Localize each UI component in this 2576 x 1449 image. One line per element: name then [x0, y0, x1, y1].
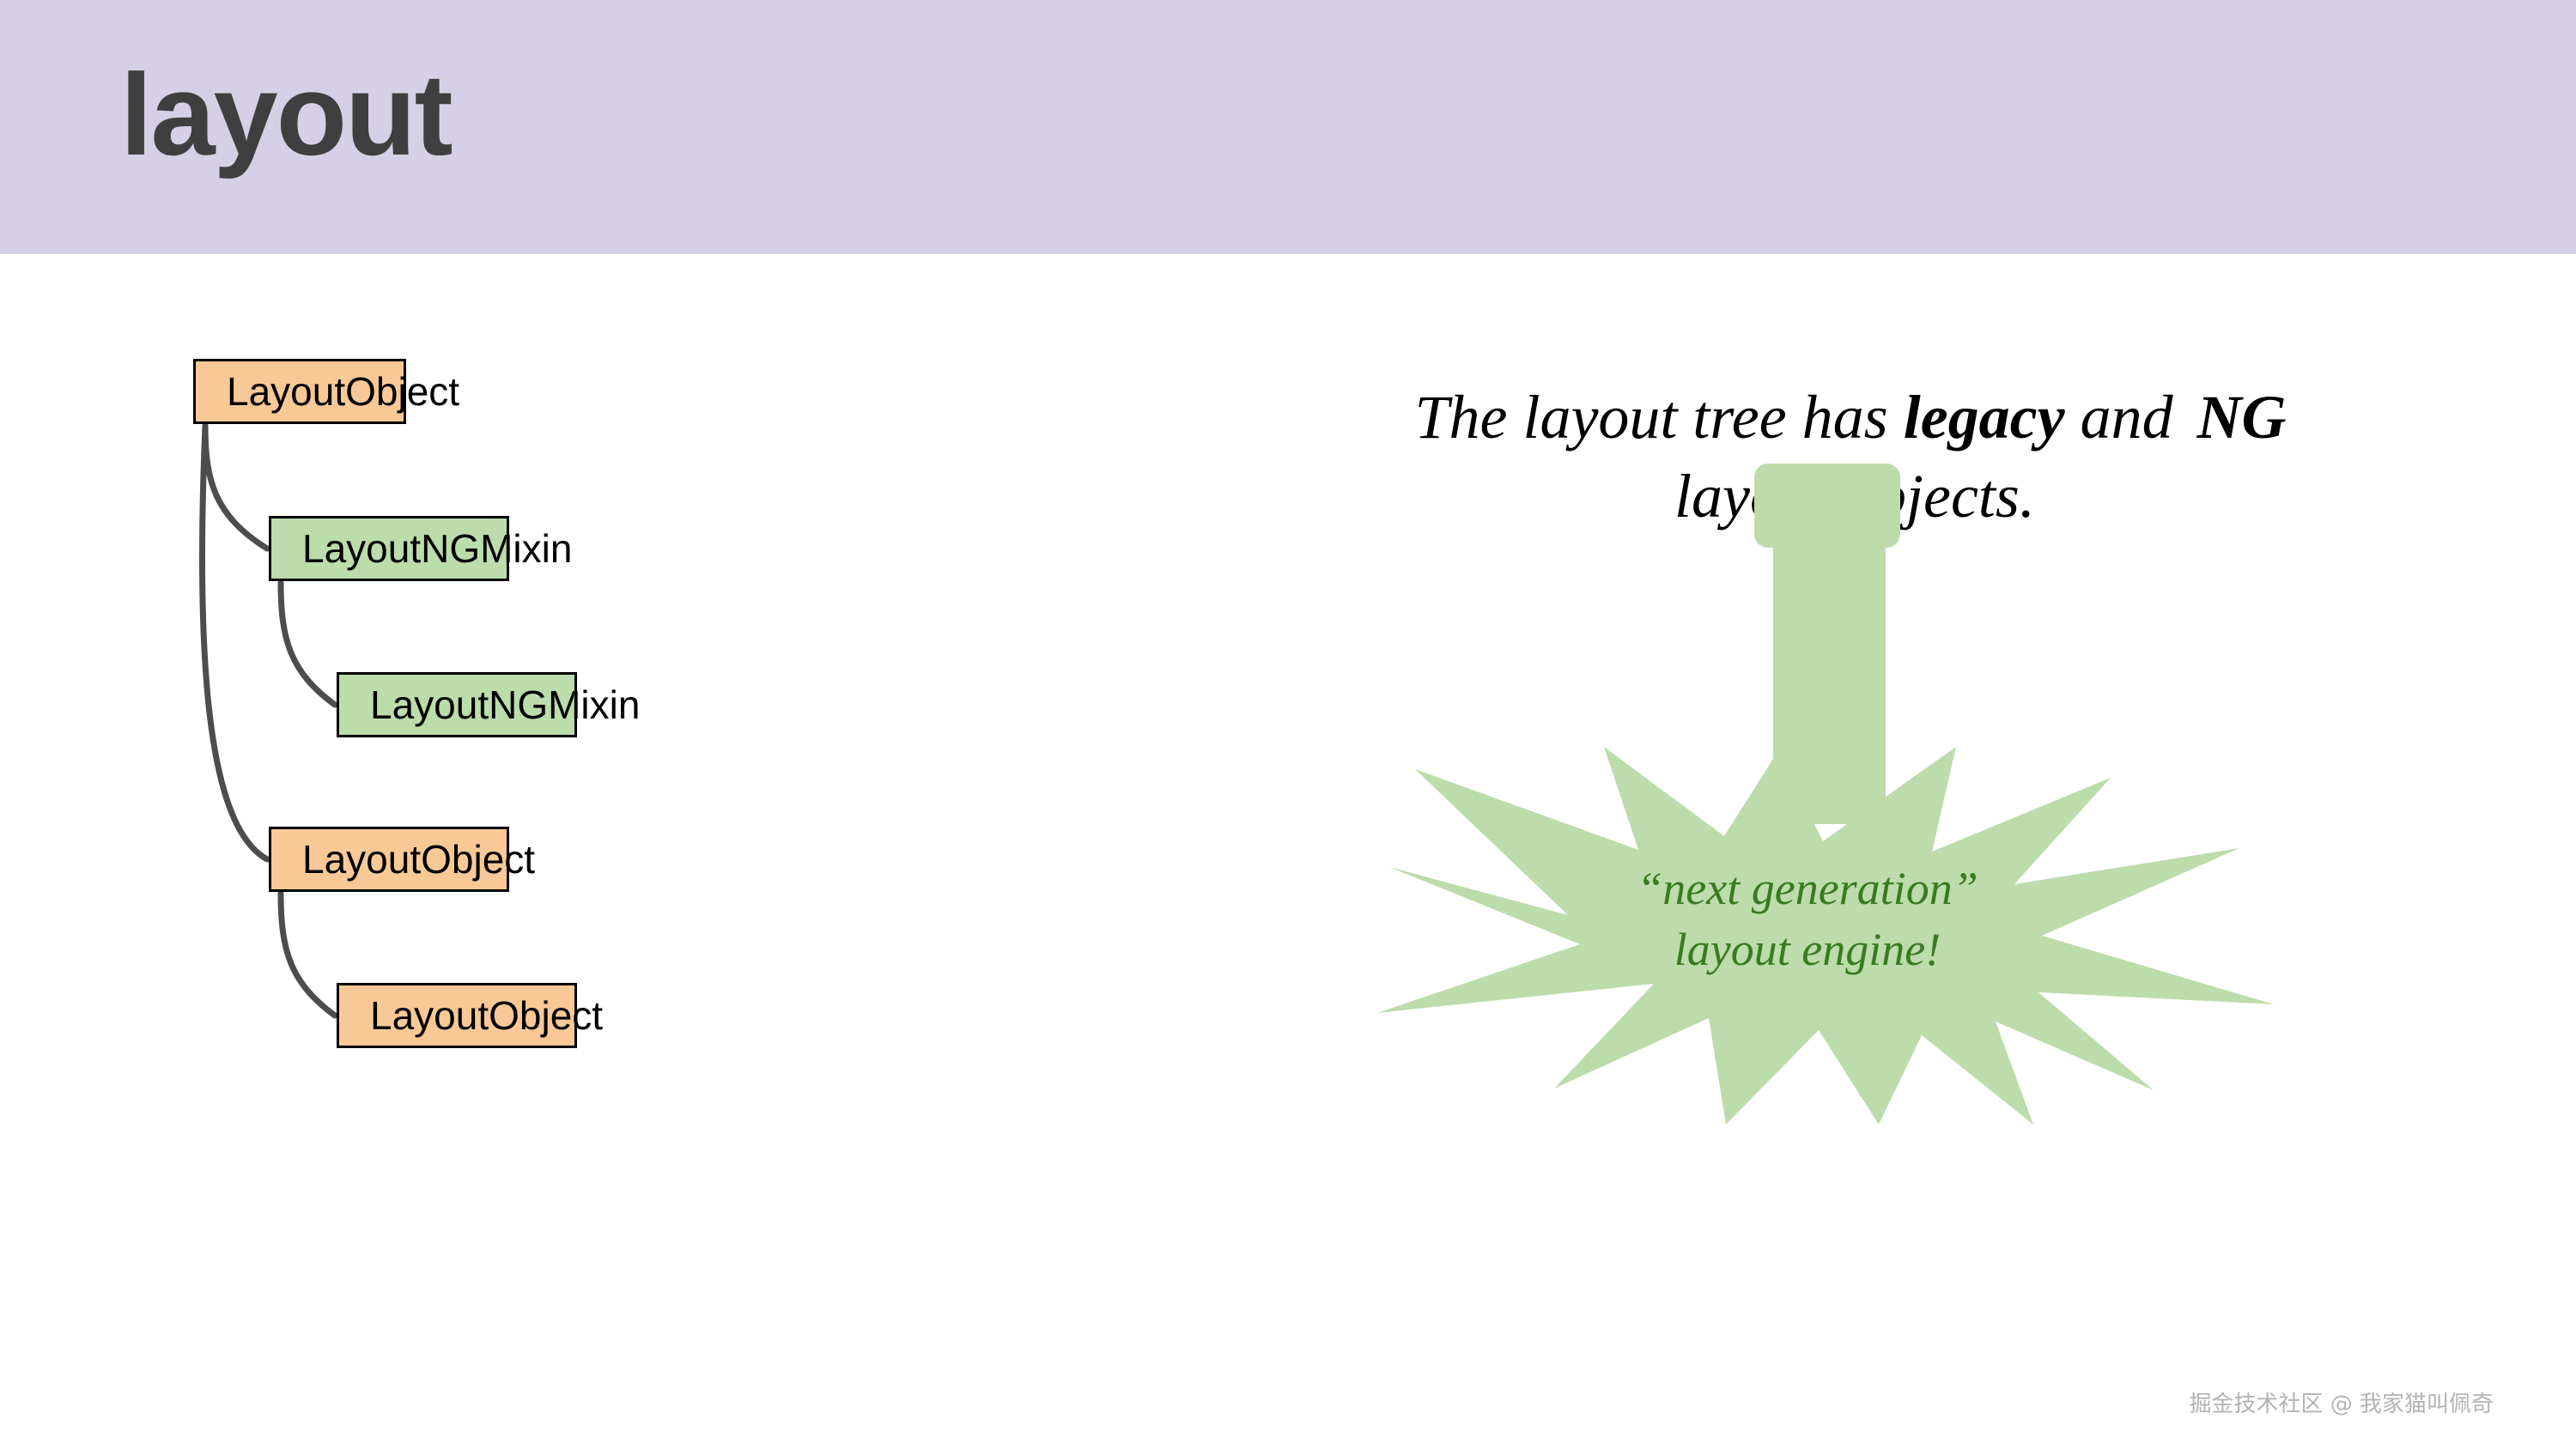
connector-edge: [205, 426, 267, 549]
hierarchy-node-label: LayoutObject: [302, 840, 535, 879]
slide-canvas: layout LayoutObject LayoutNGMixin Layout…: [0, 0, 2576, 1449]
caption-legacy-word: legacy: [1904, 383, 2065, 452]
connector-edge: [281, 583, 335, 705]
hierarchy-node-layoutngmixin-2[interactable]: LayoutNGMixin: [337, 672, 577, 737]
ng-highlight-chip-bg: [1754, 464, 1900, 548]
connector-edge: [281, 894, 335, 1016]
hierarchy-node-layoutngmixin-1[interactable]: LayoutNGMixin: [269, 516, 509, 581]
caption-ng-word: NG: [2189, 381, 2295, 453]
hierarchy-node-layoutobject-2[interactable]: LayoutObject: [337, 983, 577, 1048]
hierarchy-node-layoutobject-1[interactable]: LayoutObject: [269, 827, 509, 892]
caption-part2: and: [2065, 383, 2189, 452]
hierarchy-node-label: LayoutNGMixin: [370, 685, 640, 724]
ng-callout-group: The layout tree has legacy and NG layout…: [1340, 343, 2370, 1185]
starburst-caption: “next generation” layout engine!: [1524, 858, 2091, 981]
watermark-text: 掘金技术社区 @ 我家猫叫佩奇: [2189, 1386, 2494, 1418]
hierarchy-node-label: LayoutNGMixin: [302, 529, 572, 568]
caption-part1: The layout tree has: [1414, 383, 1903, 452]
starburst-line-1: “next generation”: [1524, 858, 2091, 919]
connector-lines: [0, 0, 1116, 944]
hierarchy-node-label: LayoutObject: [227, 372, 459, 411]
hierarchy-node-label: LayoutObject: [370, 996, 603, 1035]
hierarchy-node-layoutobject-root[interactable]: LayoutObject: [193, 359, 406, 424]
class-hierarchy-diagram: LayoutObject LayoutNGMixin LayoutNGMixin…: [0, 0, 1116, 944]
starburst-line-2: layout engine!: [1524, 919, 2091, 980]
